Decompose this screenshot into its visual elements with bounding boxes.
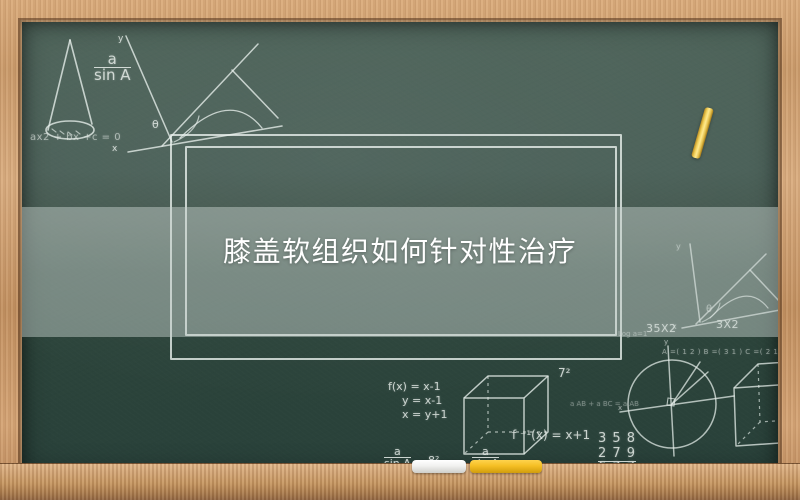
chalk-ledge <box>0 463 800 500</box>
white-chalk-on-ledge[interactable] <box>412 460 466 473</box>
yellow-chalk-on-ledge[interactable] <box>470 460 542 473</box>
page-title: 膝盖软组织如何针对性治疗 <box>0 185 800 315</box>
screenshot-root: a sin A ax2 + bx +c = 0 y x θ <box>0 0 800 500</box>
